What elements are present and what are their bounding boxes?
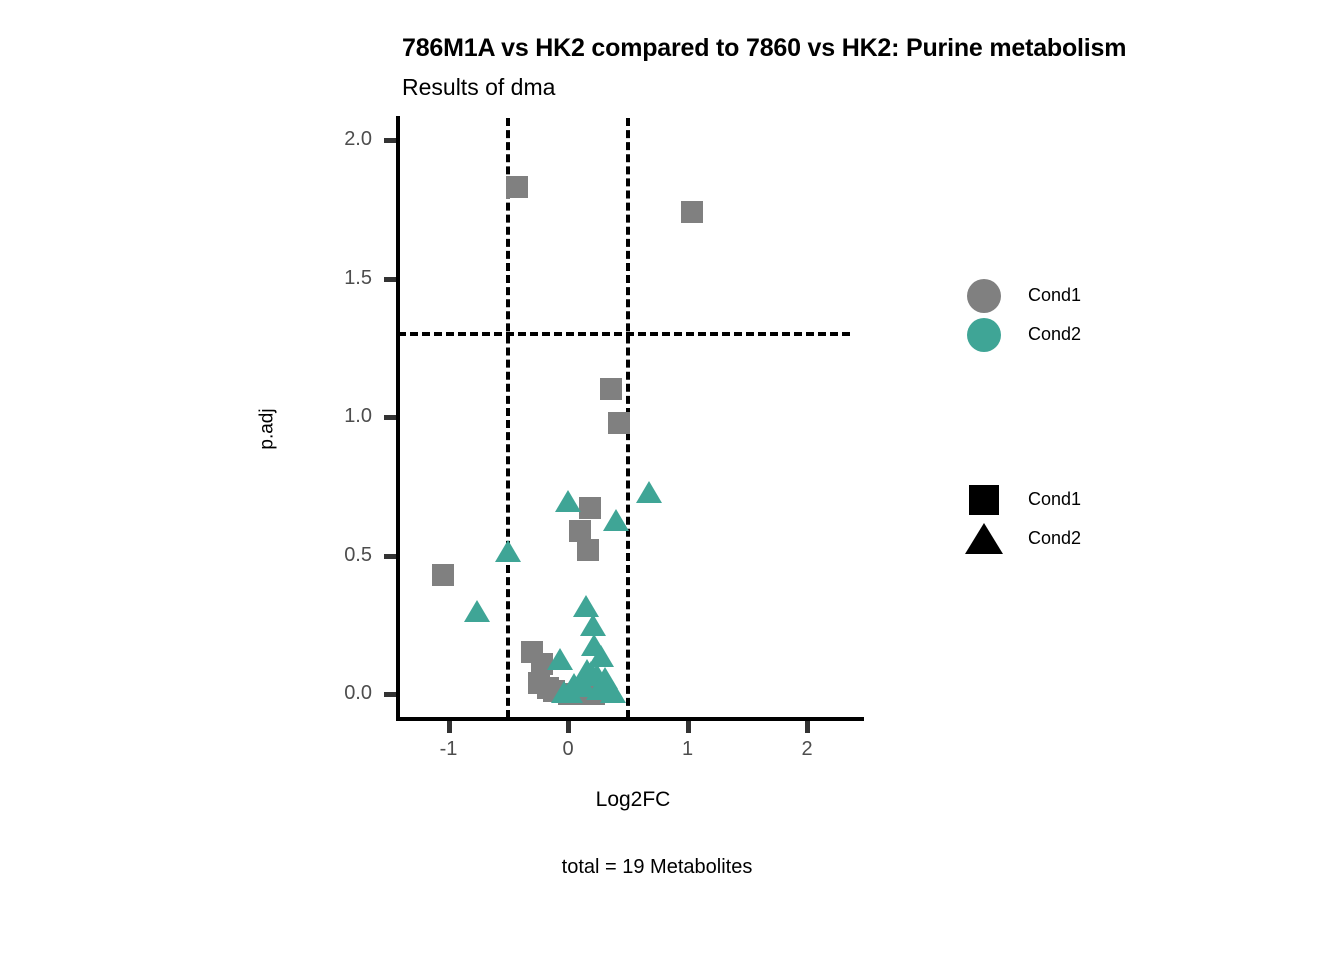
x-axis-title: Log2FC [398,788,868,812]
data-point-cond2 [464,600,490,622]
data-point-cond1 [577,539,599,561]
x-axis-line [396,717,864,721]
circle-icon [967,279,1001,313]
y-tick-label: 0.0 [312,683,372,703]
legend-color: Cond1Cond2 [962,276,1081,354]
page-title: 786M1A vs HK2 compared to 7860 vs HK2: P… [402,33,1344,63]
y-axis-title: p.adj [257,408,279,449]
data-point-cond1 [506,176,528,198]
data-point-cond2 [636,481,662,503]
data-point-cond2 [495,540,521,562]
data-point-cond2 [555,490,581,512]
legend-shape: Cond1Cond2 [962,480,1081,558]
legend-item[interactable]: Cond1 [962,480,1081,519]
x-tick-label: 0 [538,738,598,760]
legend-label: Cond2 [1028,324,1081,345]
legend-label: Cond1 [1028,489,1081,510]
legend-item[interactable]: Cond1 [962,276,1081,315]
y-tick-mark [384,554,396,559]
plot-panel [398,118,864,719]
x-tick-mark [686,721,691,733]
data-point-cond1 [681,201,703,223]
y-tick-mark [384,277,396,282]
y-tick-mark [384,692,396,697]
data-point-cond2 [557,681,583,703]
legend-label: Cond2 [1028,528,1081,549]
y-tick-mark [384,415,396,420]
data-point-cond2 [547,648,573,670]
x-tick-label: 1 [658,738,718,760]
legend-item[interactable]: Cond2 [962,315,1081,354]
plot-caption: total = 19 Metabolites [0,856,1329,879]
data-point-cond2 [603,509,629,531]
circle-icon [967,318,1001,352]
square-icon [969,485,999,515]
data-point-cond1 [600,378,622,400]
legend-item[interactable]: Cond2 [962,519,1081,558]
data-point-cond1 [579,497,601,519]
threshold-line-vertical [506,118,510,718]
data-point-cond2 [600,681,626,703]
triangle-icon [965,523,1003,554]
y-tick-label: 1.5 [312,268,372,288]
y-tick-label: 1.0 [312,406,372,426]
y-tick-label: 0.5 [312,545,372,565]
x-tick-label: -1 [419,738,479,760]
y-tick-mark [384,138,396,143]
y-tick-label: 2.0 [312,129,372,149]
x-tick-mark [447,721,452,733]
data-point-cond1 [608,412,630,434]
y-axis-line [396,116,400,721]
x-tick-mark [805,721,810,733]
x-tick-mark [566,721,571,733]
legend-label: Cond1 [1028,285,1081,306]
data-point-cond1 [432,564,454,586]
plot-subtitle: Results of dma [402,73,1302,101]
x-tick-label: 2 [777,738,837,760]
threshold-line-horizontal [398,332,850,336]
volcano-plot-figure: 786M1A vs HK2 compared to 7860 vs HK2: P… [0,0,1344,960]
